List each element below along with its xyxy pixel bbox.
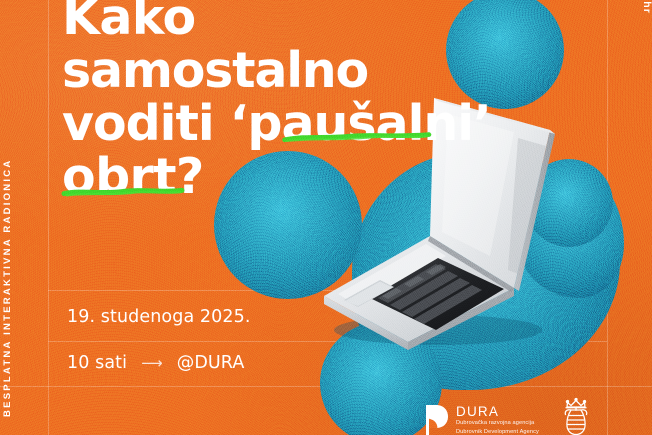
poster-canvas: Kako samostalno voditi ‘paušalni’ obrt? …: [0, 0, 652, 435]
right-vertical-contact: PRIJAVE⟶099 5361 271⟶mpuljas@dura.hr: [641, 0, 652, 14]
dura-subtitle-hr: Dubrovačka razvojna agencija: [456, 419, 539, 428]
event-time: 10 sati: [67, 353, 127, 373]
left-vertical-label: BESPLATNA INTERAKTIVNA RADIONICA: [2, 159, 13, 417]
dura-subtitle-en: Dubrovnik Development Agency: [456, 428, 539, 435]
dura-d-mark-icon: [424, 404, 449, 435]
rule-vertical-left: [48, 0, 49, 435]
page-title: Kako samostalno voditi ‘paušalni’ obrt?: [62, 0, 532, 204]
event-date: 19. studenoga 2025.: [67, 307, 251, 327]
green-underline-obrt: [62, 187, 184, 198]
headline-line-1: Kako: [62, 0, 532, 44]
dura-logo: DURA Dubrovačka razvojna agencija Dubrov…: [424, 404, 539, 435]
dura-logo-text: DURA Dubrovačka razvojna agencija Dubrov…: [456, 404, 539, 435]
dura-name: DURA: [456, 405, 539, 419]
event-time-location: 10 sati⟶@DURA: [67, 353, 244, 373]
headline-line-2: samostalno: [62, 44, 532, 97]
event-place: @DURA: [177, 353, 245, 373]
dubrovnik-crest-icon: [554, 397, 598, 435]
email-address[interactable]: mpuljas@dura.hr: [641, 0, 652, 14]
green-underline-pausalni: [283, 132, 431, 143]
arrow-icon-3: ⟶: [127, 354, 177, 372]
